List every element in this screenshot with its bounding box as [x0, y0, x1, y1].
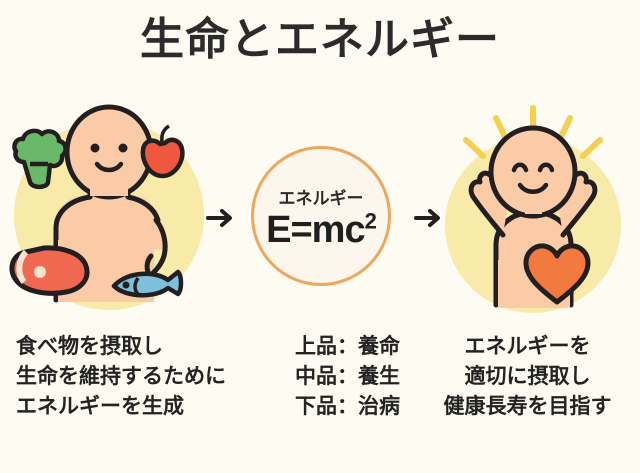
energy-circle: エネルギー E=mc2 — [251, 146, 391, 286]
formula-exponent: 2 — [365, 208, 376, 233]
center-caption-line-1: 上品：養命 — [244, 332, 400, 362]
center-caption: 上品：養命 中品：養生 下品：治病 — [244, 332, 400, 421]
right-caption-line-1: エネルギーを — [420, 332, 635, 362]
center-caption-line-2: 中品：養生 — [244, 362, 400, 392]
right-caption: エネルギーを 適切に摂取し 健康長寿を目指す — [420, 332, 635, 421]
energy-formula: E=mc2 — [266, 211, 376, 249]
left-caption-line-1: 食べ物を摂取し — [16, 332, 226, 362]
left-illustration-panel — [4, 100, 214, 320]
infographic-root: 生命とエネルギー — [0, 0, 640, 473]
right-caption-line-3: 健康長寿を目指す — [420, 392, 635, 422]
healthy-person-illustration — [430, 100, 636, 320]
arrow-right-icon-1 — [200, 198, 240, 238]
left-caption-line-3: エネルギーを生成 — [16, 392, 226, 422]
left-caption: 食べ物を摂取し 生命を維持するために エネルギーを生成 — [16, 332, 226, 421]
eating-person-illustration — [4, 100, 214, 320]
right-illustration-panel — [430, 100, 636, 320]
formula-base: E=mc — [266, 209, 364, 251]
center-caption-line-3: 下品：治病 — [244, 392, 400, 422]
left-caption-line-2: 生命を維持するために — [16, 362, 226, 392]
meat-icon — [12, 248, 87, 293]
right-caption-line-2: 適切に摂取し — [420, 362, 635, 392]
energy-label: エネルギー — [279, 184, 364, 209]
page-title: 生命とエネルギー — [0, 16, 640, 64]
